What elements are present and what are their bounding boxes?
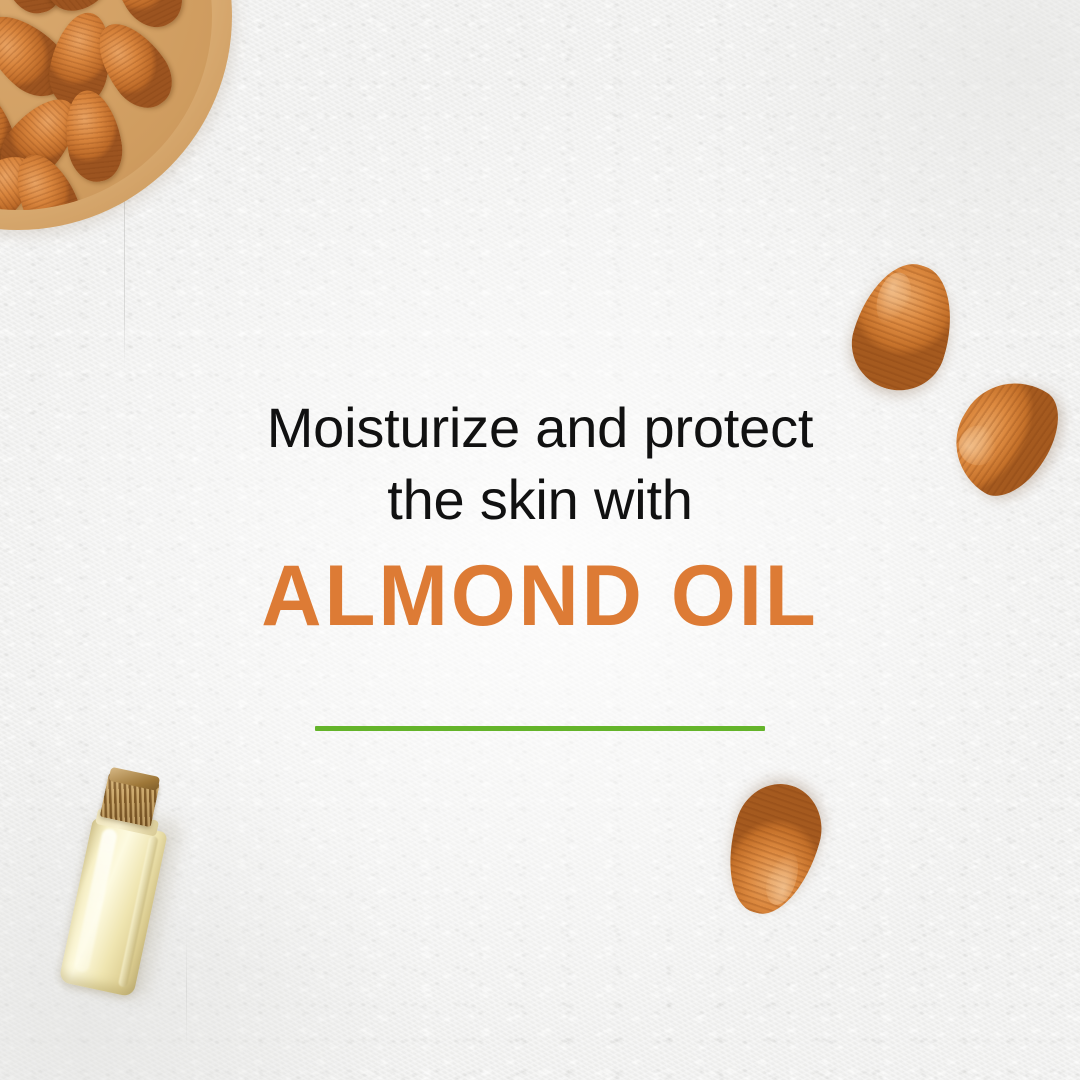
- product-name-title: ALMOND OIL: [16, 548, 1064, 644]
- green-underline-rule: [315, 726, 765, 731]
- composite-seam-vertical-lower: [186, 930, 187, 1050]
- promo-canvas: Moisturize and protect the skin with ALM…: [0, 0, 1080, 1080]
- headline-text: Moisturize and protect the skin with: [0, 392, 1080, 536]
